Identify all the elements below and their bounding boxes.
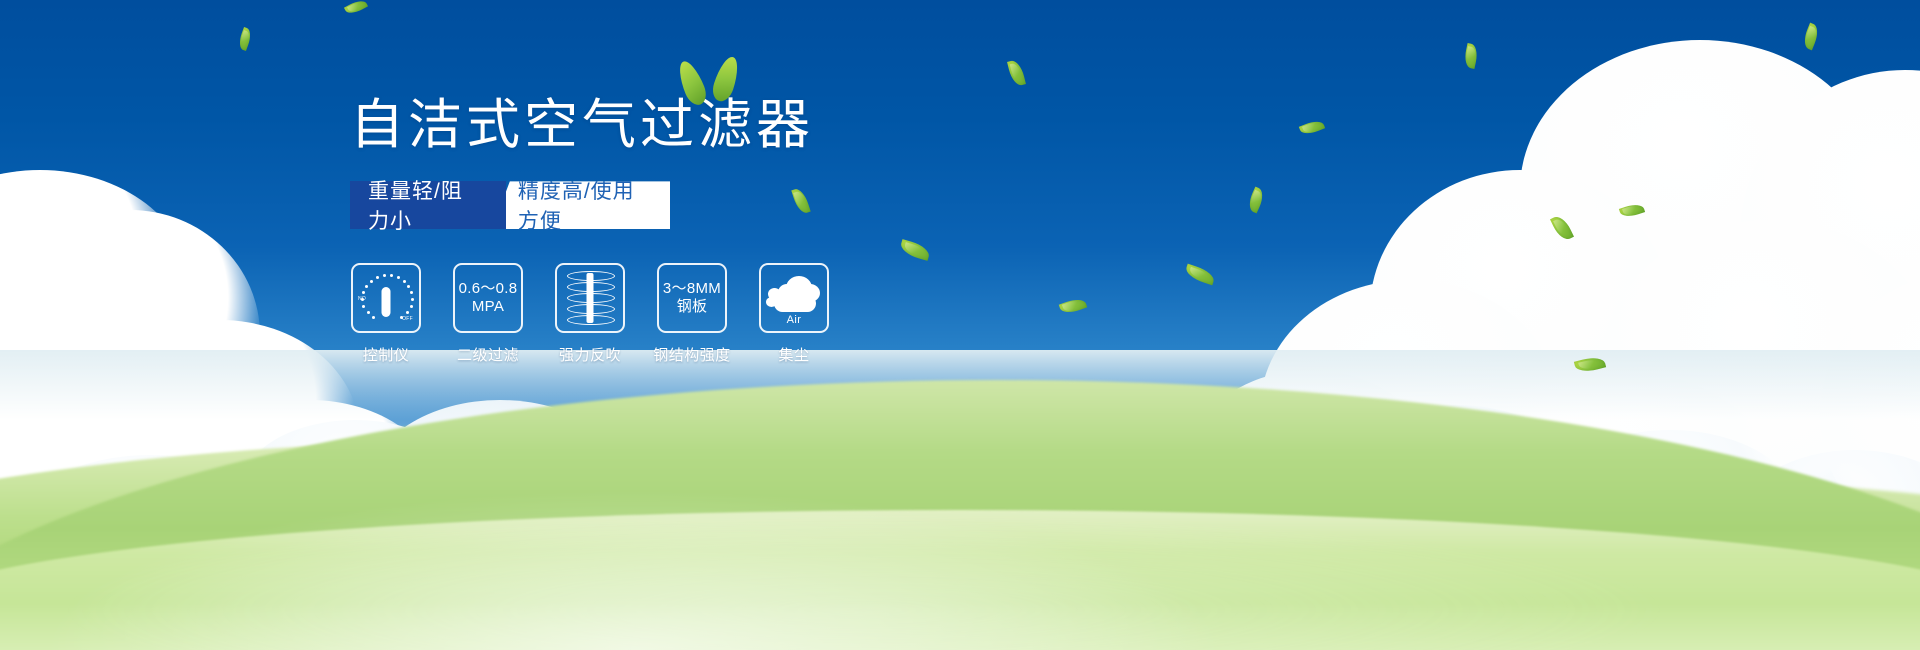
pressure-icon: 0.6～0.8 MPA — [459, 280, 518, 316]
feature-item-pressure[interactable]: 0.6～0.8 MPA 二级过滤 — [452, 263, 524, 365]
feature-icon-box: 0.6～0.8 MPA — [453, 263, 523, 333]
feature-caption: 集尘 — [778, 344, 809, 365]
feature-item-steel[interactable]: 3～8MM 钢板 钢结构强度 — [656, 263, 728, 365]
tagline-bar: 重量轻/阻力小 精度高/使用方便 — [350, 181, 670, 229]
dial-label-on: NO — [358, 296, 366, 302]
feature-caption: 控制仪 — [363, 344, 410, 365]
steel-material: 钢板 — [663, 298, 721, 316]
gauge-dial-icon: NO OFF — [359, 271, 413, 325]
tagline-right: 精度高/使用方便 — [492, 181, 670, 229]
feature-icon-box: NO OFF — [351, 263, 421, 333]
air-cloud-icon: Air — [766, 272, 822, 324]
feature-icon-box: Air — [759, 263, 829, 333]
banner-content: 自洁式空气过滤器 重量轻/阻力小 精度高/使用方便 — [350, 96, 1050, 365]
feature-item-controller[interactable]: NO OFF 控制仪 — [350, 263, 422, 365]
dial-label-off: OFF — [402, 316, 413, 322]
grass-glow — [0, 390, 1920, 650]
backblow-icon — [567, 271, 613, 325]
steel-plate-icon: 3～8MM 钢板 — [663, 280, 721, 316]
feature-item-backblow[interactable]: 强力反吹 — [554, 263, 626, 365]
cloud-base — [774, 295, 816, 312]
hero-banner: 自洁式空气过滤器 重量轻/阻力小 精度高/使用方便 — [0, 0, 1920, 650]
title-wrap: 自洁式空气过滤器 — [350, 96, 1050, 155]
feature-icon-row: NO OFF 控制仪 0.6～0.8 MPA 二级过滤 — [350, 263, 1050, 365]
air-label: Air — [766, 314, 822, 326]
feature-caption: 二级过滤 — [457, 344, 519, 365]
leaf-right-icon — [709, 54, 742, 104]
tagline-left: 重量轻/阻力小 — [350, 181, 506, 229]
feature-caption: 钢结构强度 — [653, 344, 731, 365]
grass-foreground — [0, 350, 1920, 650]
feature-icon-box — [555, 263, 625, 333]
title-leaf-pair-icon — [680, 54, 750, 110]
feature-item-dust[interactable]: Air 集尘 — [758, 263, 830, 365]
pressure-unit: MPA — [459, 298, 518, 316]
feature-caption: 强力反吹 — [559, 344, 621, 365]
feature-icon-box: 3～8MM 钢板 — [657, 263, 727, 333]
pressure-range: 0.6～0.8 — [459, 280, 518, 298]
dial-needle — [382, 287, 391, 317]
steel-thickness: 3～8MM — [663, 280, 721, 298]
leaf-left-icon — [674, 58, 710, 108]
